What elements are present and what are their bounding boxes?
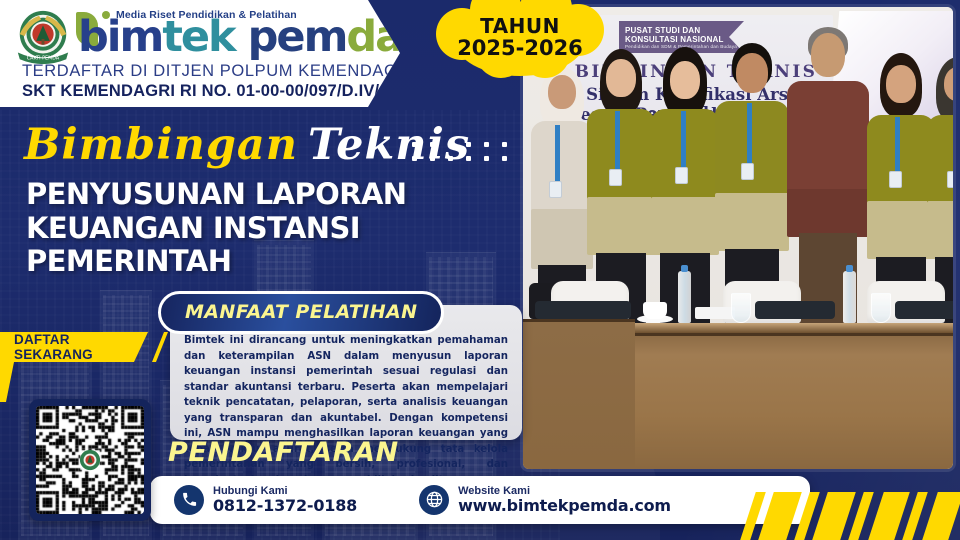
contact-phone-value: 0812-1372-0188 (213, 497, 357, 515)
photo-tablet (695, 307, 735, 319)
photo-water-bottle (678, 271, 691, 323)
photo-person-badge (549, 181, 562, 198)
dot (430, 142, 435, 147)
wordmark-pem: pem (248, 12, 347, 62)
dot (448, 156, 453, 161)
photo-person-badge (889, 171, 902, 188)
photo-water-bottle (843, 271, 856, 323)
contact-website-value: www.bimtekpemda.com (458, 497, 671, 515)
contact-phone[interactable]: Hubungi Kami 0812-1372-0188 (174, 485, 357, 515)
photo-person-lanyard (681, 111, 686, 169)
photo-person-head (606, 59, 636, 97)
daftar-sekarang-label: DAFTAR SEKARANG (14, 332, 148, 362)
photo-ribbon-line1: PUSAT STUDI DAN (625, 26, 738, 35)
year-badge-label: TAHUN (480, 16, 560, 38)
photo-person-head (736, 53, 768, 93)
skt-line: SKT KEMENDAGRI RI NO. 01-00-00/097/D.IV/… (22, 82, 417, 101)
photo-person-badge (741, 163, 754, 180)
photo-person-batik (867, 201, 935, 259)
photo-person-head (670, 61, 700, 99)
photo-person-batik (715, 193, 789, 251)
photo-person-batik (651, 197, 719, 255)
photo-person-batik (927, 201, 953, 259)
photo-person-lanyard (895, 117, 900, 173)
photo-person-head (548, 75, 576, 109)
dot (412, 142, 417, 147)
dot (466, 156, 471, 161)
dot (466, 142, 471, 147)
daftar-sekarang-button[interactable]: DAFTAR SEKARANG (0, 332, 148, 362)
qr-center-crest-icon (79, 449, 101, 471)
kemendagri-crest-logo: CAKTI PEMDA (12, 8, 74, 68)
photo-person-top (587, 109, 655, 209)
photo-person-badge (609, 169, 622, 186)
decorative-dot-grid (412, 142, 520, 170)
year-badge-value: 2025-2026 (457, 37, 583, 60)
photo-napkin (535, 301, 631, 319)
pendaftaran-heading: PENDAFTARAN (168, 437, 399, 468)
benefit-pill-label: MANFAAT PELATIHAN (158, 291, 444, 334)
hero-script-line: BimbinganTeknis (24, 120, 470, 170)
page-title-line-1: PENYUSUNAN LAPORAN (26, 178, 406, 212)
page-title-line-3: PEMERINTAH (26, 245, 406, 279)
photo-person-head (886, 65, 916, 103)
photo-person-badge (947, 171, 953, 188)
wordmark-text: bimtek pemda (78, 16, 402, 59)
photo-cup (643, 302, 667, 319)
photo-person-batik (587, 197, 655, 255)
year-badge: TAHUN 2025-2026 (436, 0, 604, 78)
photo-glass (871, 293, 891, 323)
photo-person-top (715, 101, 789, 205)
wordmark-bim: bim (78, 12, 162, 62)
photo-person-top (927, 115, 953, 213)
hero-script-yellow: Bimbingan (24, 120, 298, 170)
dot (484, 142, 489, 147)
photo-person-lanyard (747, 103, 752, 165)
photo-table-side (523, 319, 635, 469)
globe-icon (419, 485, 449, 515)
wordmark-tek: tek (162, 12, 234, 62)
photo-person-batik (787, 189, 869, 237)
registration-qr-code[interactable] (29, 399, 151, 521)
dot (430, 156, 435, 161)
contact-website[interactable]: Website Kami www.bimtekpemda.com (419, 485, 671, 515)
qr-code-image (36, 406, 144, 514)
page-title: PENYUSUNAN LAPORAN KEUANGAN INSTANSI PEM… (26, 178, 406, 279)
photo-napkin (755, 301, 835, 319)
dot (448, 142, 453, 147)
dot (502, 142, 507, 147)
photo-person-batik (531, 209, 593, 269)
photo-glass (731, 293, 751, 323)
dot (502, 156, 507, 161)
svg-text:CAKTI PEMDA: CAKTI PEMDA (27, 55, 60, 61)
photo-person-lanyard (555, 125, 560, 183)
photo-person-head (811, 33, 845, 77)
photo-person-top (867, 115, 935, 213)
page-title-line-2: KEUANGAN INSTANSI (26, 212, 406, 246)
phone-icon (174, 485, 204, 515)
photo-person-top (787, 81, 869, 203)
brand-header: CAKTI PEMDA Media Riset Pendidikan & Pel… (0, 0, 400, 107)
contact-bar: Hubungi Kami 0812-1372-0188 Website Kami… (150, 476, 810, 524)
decorative-stripes (738, 492, 960, 540)
photo-napkin (895, 301, 953, 319)
dot (412, 156, 417, 161)
photo-person-lanyard (615, 111, 620, 171)
dot (484, 156, 489, 161)
poster-canvas: PUSAT STUDI DAN KONSULTASI NASIONAL Pend… (0, 0, 960, 540)
photo-person (787, 29, 869, 329)
photo-person-badge (675, 167, 688, 184)
registered-line: TERDAFTAR DI DITJEN POLPUM KEMENDAGRI RI (22, 62, 438, 81)
